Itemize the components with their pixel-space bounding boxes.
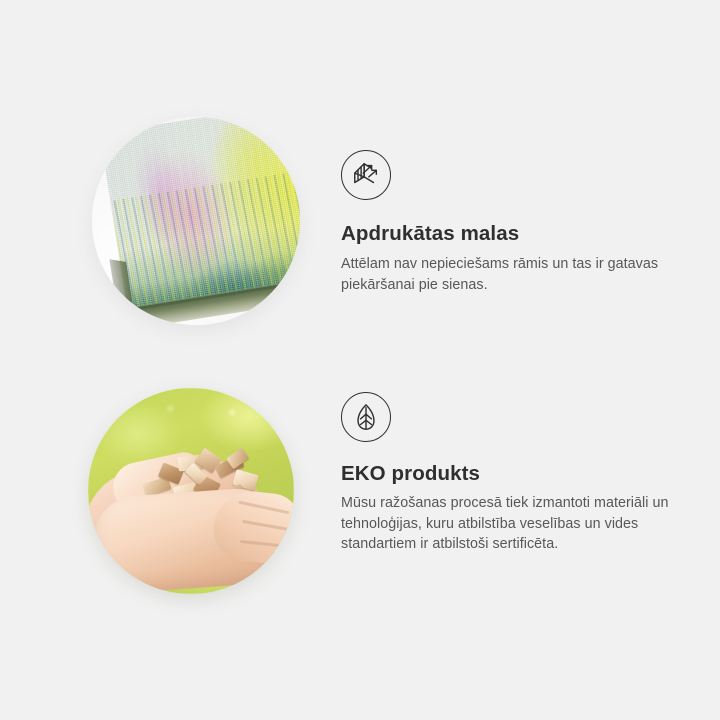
leaf-icon [341, 392, 391, 442]
feature-text-printed-edges: Apdrukātas malas Attēlam nav nepieciešam… [341, 150, 693, 295]
canvas-wrapped-edge-icon [341, 150, 391, 200]
canvas-printed-face [100, 117, 300, 312]
product-feature-panel: Apdrukātas malas Attēlam nav nepieciešam… [0, 0, 720, 720]
feature-image-printed-edges [92, 117, 300, 325]
canvas-panel [92, 117, 300, 325]
feature-body-printed-edges: Attēlam nav nepieciešams rāmis un tas ir… [341, 254, 681, 295]
feature-body-eco-product: Mūsu ražošanas procesā tiek izmantoti ma… [341, 493, 681, 555]
canvas-weave-texture [100, 117, 300, 312]
feature-image-eco-product [88, 388, 294, 594]
feature-text-eco-product: EKO produkts Mūsu ražošanas procesā tiek… [341, 392, 693, 555]
feature-title-printed-edges: Apdrukātas malas [341, 221, 693, 247]
feature-title-eco-product: EKO produkts [341, 461, 693, 487]
